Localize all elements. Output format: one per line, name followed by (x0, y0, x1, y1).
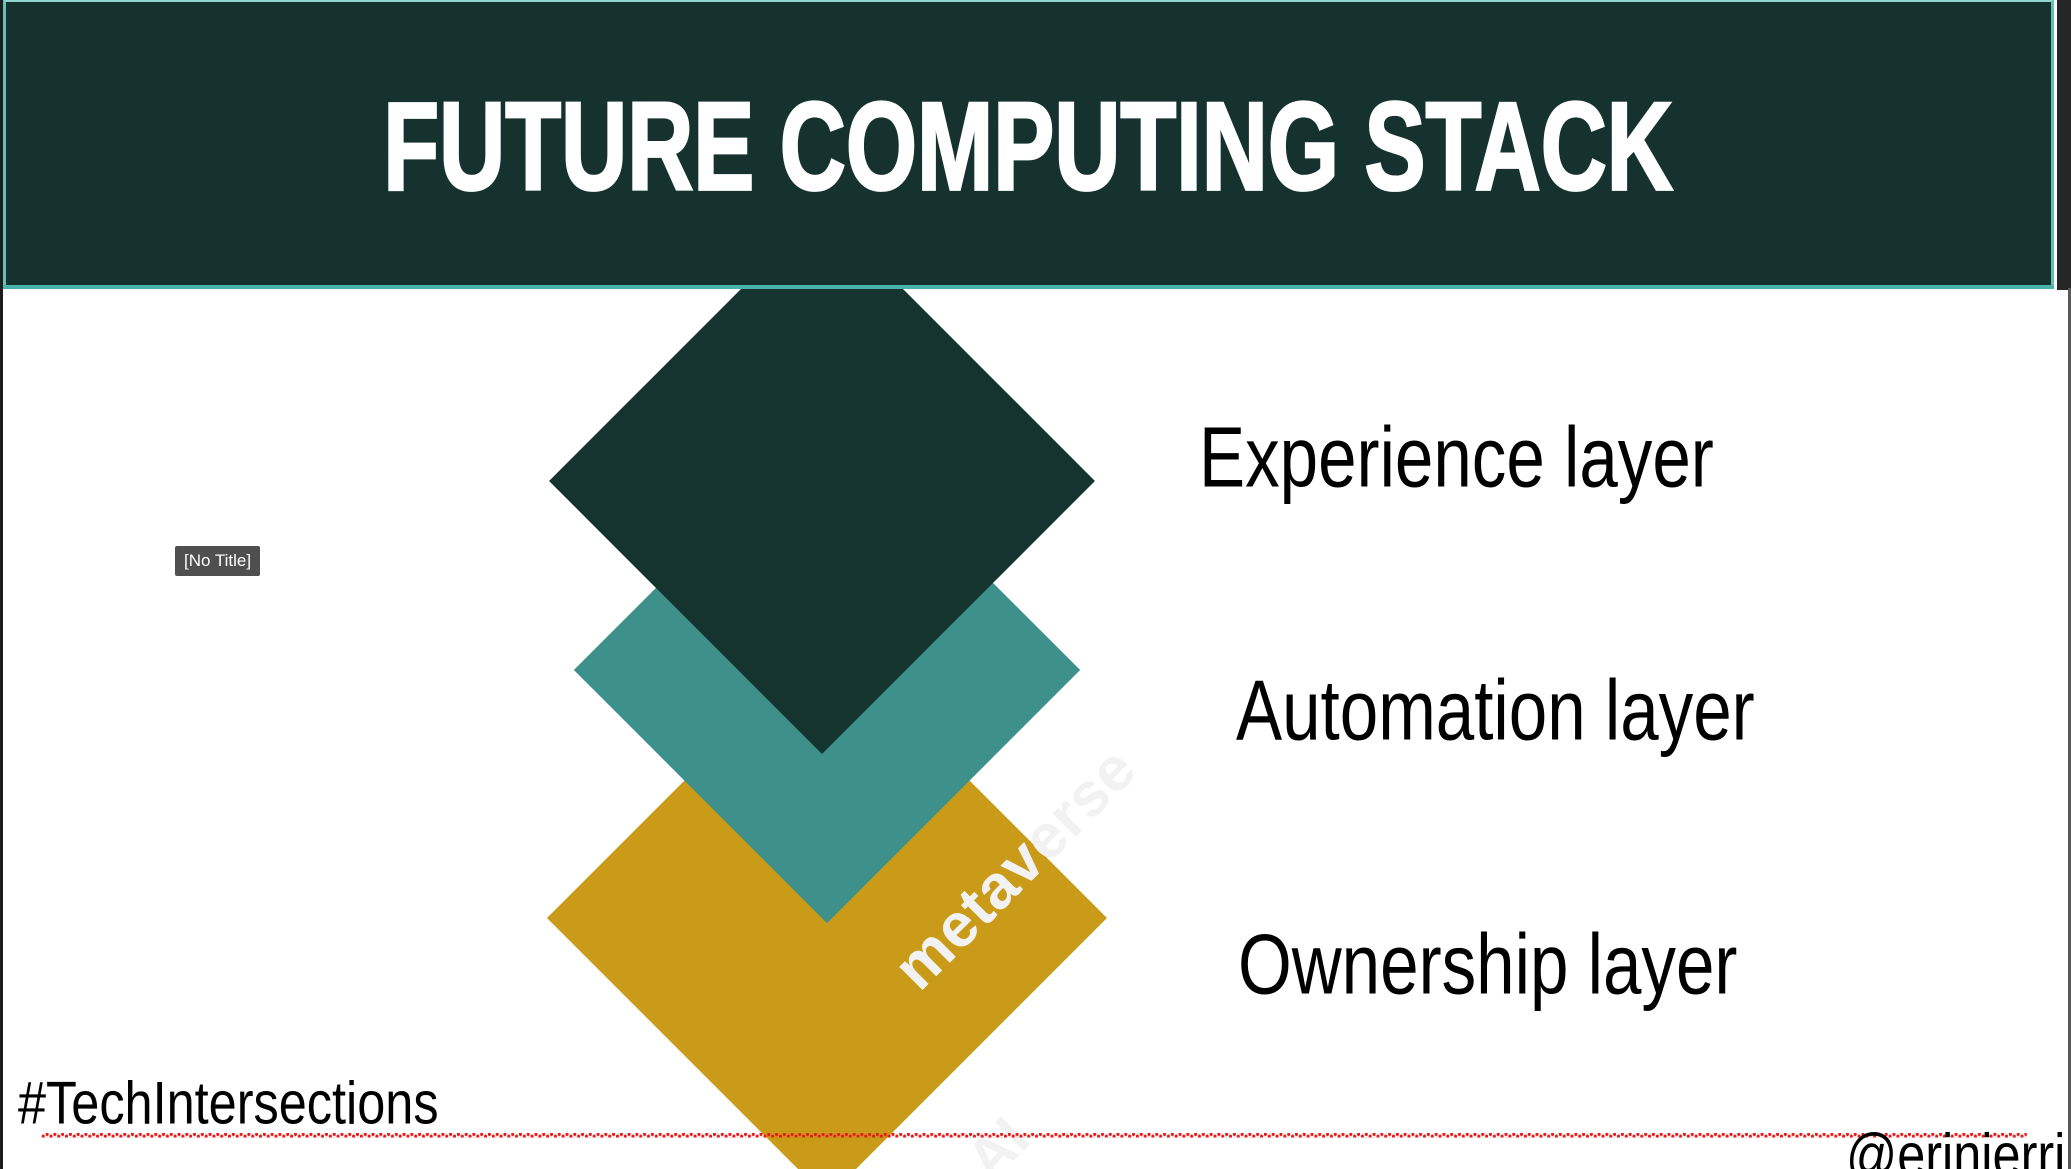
no-title-tooltip[interactable]: [No Title] (175, 546, 260, 576)
header-right-strip (2057, 0, 2071, 290)
footer-handle: @erinjerri (1846, 1126, 2071, 1169)
slide-header-band: FUTURE COMPUTING STACK (3, 0, 2054, 288)
window-left-edge (0, 0, 3, 1169)
slide-canvas: FUTURE COMPUTING STACK metaverse AI web3… (0, 0, 2071, 1169)
layer-caption-automation: Automation layer (1236, 669, 1755, 754)
diamond-stack-diagram: metaverse AI web3 (0, 288, 2071, 1169)
layer-caption-experience: Experience layer (1199, 416, 1714, 501)
footer-hashtag: #TechIntersections (18, 1074, 2027, 1134)
layer-caption-ownership: Ownership layer (1238, 923, 1737, 1008)
page-title: FUTURE COMPUTING STACK (384, 84, 1674, 209)
